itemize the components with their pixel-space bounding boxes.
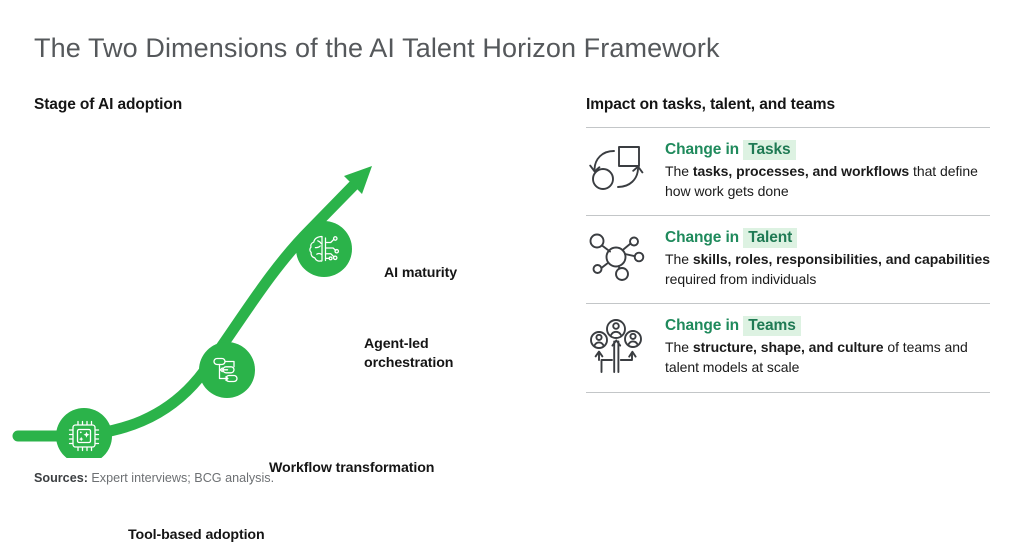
impact-title-highlight: Tasks [743, 140, 795, 160]
impact-title-highlight: Talent [743, 228, 797, 248]
stage-of-adoption-panel: Stage of AI adoption [0, 96, 560, 456]
impact-panel: Impact on tasks, talent, and teams Chang… [586, 96, 990, 393]
axis-label-ai-maturity: AI maturity [384, 264, 457, 283]
impact-title-prefix: Change in [665, 141, 739, 158]
impact-body-teams: Change in Teams The structure, shape, an… [665, 317, 990, 377]
sources-text: Expert interviews; BCG analysis. [91, 471, 274, 485]
impact-item-tasks: Change in Tasks The tasks, processes, an… [586, 128, 990, 215]
impact-desc-teams: The structure, shape, and culture of tea… [665, 338, 990, 377]
impact-title-prefix: Change in [665, 317, 739, 334]
stage-label-agent-line2: orchestration [364, 355, 453, 371]
impact-title-prefix: Change in [665, 229, 739, 246]
impact-title-tasks: Change in Tasks [665, 141, 990, 159]
sources-label: Sources: [34, 471, 88, 485]
growth-curve-arrow [18, 166, 372, 436]
stage-node-agent [296, 221, 352, 277]
divider [586, 392, 990, 393]
desc-lead: The [665, 251, 693, 267]
impact-item-teams: Change in Teams The structure, shape, an… [586, 304, 990, 391]
stage-label-tool: Tool-based adoption [128, 526, 265, 545]
desc-bold: structure, shape, and culture [693, 339, 884, 355]
desc-bold: skills, roles, responsibilities, and cap… [693, 251, 990, 267]
team-growth-icon [586, 317, 648, 377]
stage-label-agent: Agent-led orchestration [364, 335, 453, 372]
right-panel-heading: Impact on tasks, talent, and teams [586, 96, 990, 114]
desc-lead: The [665, 339, 693, 355]
swap-shapes-icon [586, 141, 648, 195]
stage-growth-curve-diagram: AI maturity Agent-led orchestration Work… [0, 118, 560, 458]
impact-title-talent: Change in Talent [665, 229, 990, 247]
stage-node-workflow [199, 342, 255, 398]
impact-desc-tasks: The tasks, processes, and workflows that… [665, 162, 990, 201]
impact-body-tasks: Change in Tasks The tasks, processes, an… [665, 141, 990, 201]
impact-body-talent: Change in Talent The skills, roles, resp… [665, 229, 990, 289]
impact-title-highlight: Teams [743, 316, 800, 336]
impact-title-teams: Change in Teams [665, 317, 990, 335]
impact-item-talent: Change in Talent The skills, roles, resp… [586, 216, 990, 303]
desc-bold: tasks, processes, and workflows [693, 163, 909, 179]
desc-lead: The [665, 163, 693, 179]
stage-node-tool [56, 408, 112, 458]
sources-note: Sources: Expert interviews; BCG analysis… [34, 471, 274, 485]
stage-label-agent-line1: Agent-led [364, 336, 429, 352]
impact-desc-talent: The skills, roles, responsibilities, and… [665, 250, 990, 289]
stage-label-workflow: Workflow transformation [269, 459, 434, 478]
network-hub-icon [586, 229, 648, 283]
page-title: The Two Dimensions of the AI Talent Hori… [34, 33, 720, 64]
left-panel-heading: Stage of AI adoption [34, 96, 182, 114]
desc-tail: required from individuals [665, 271, 816, 287]
